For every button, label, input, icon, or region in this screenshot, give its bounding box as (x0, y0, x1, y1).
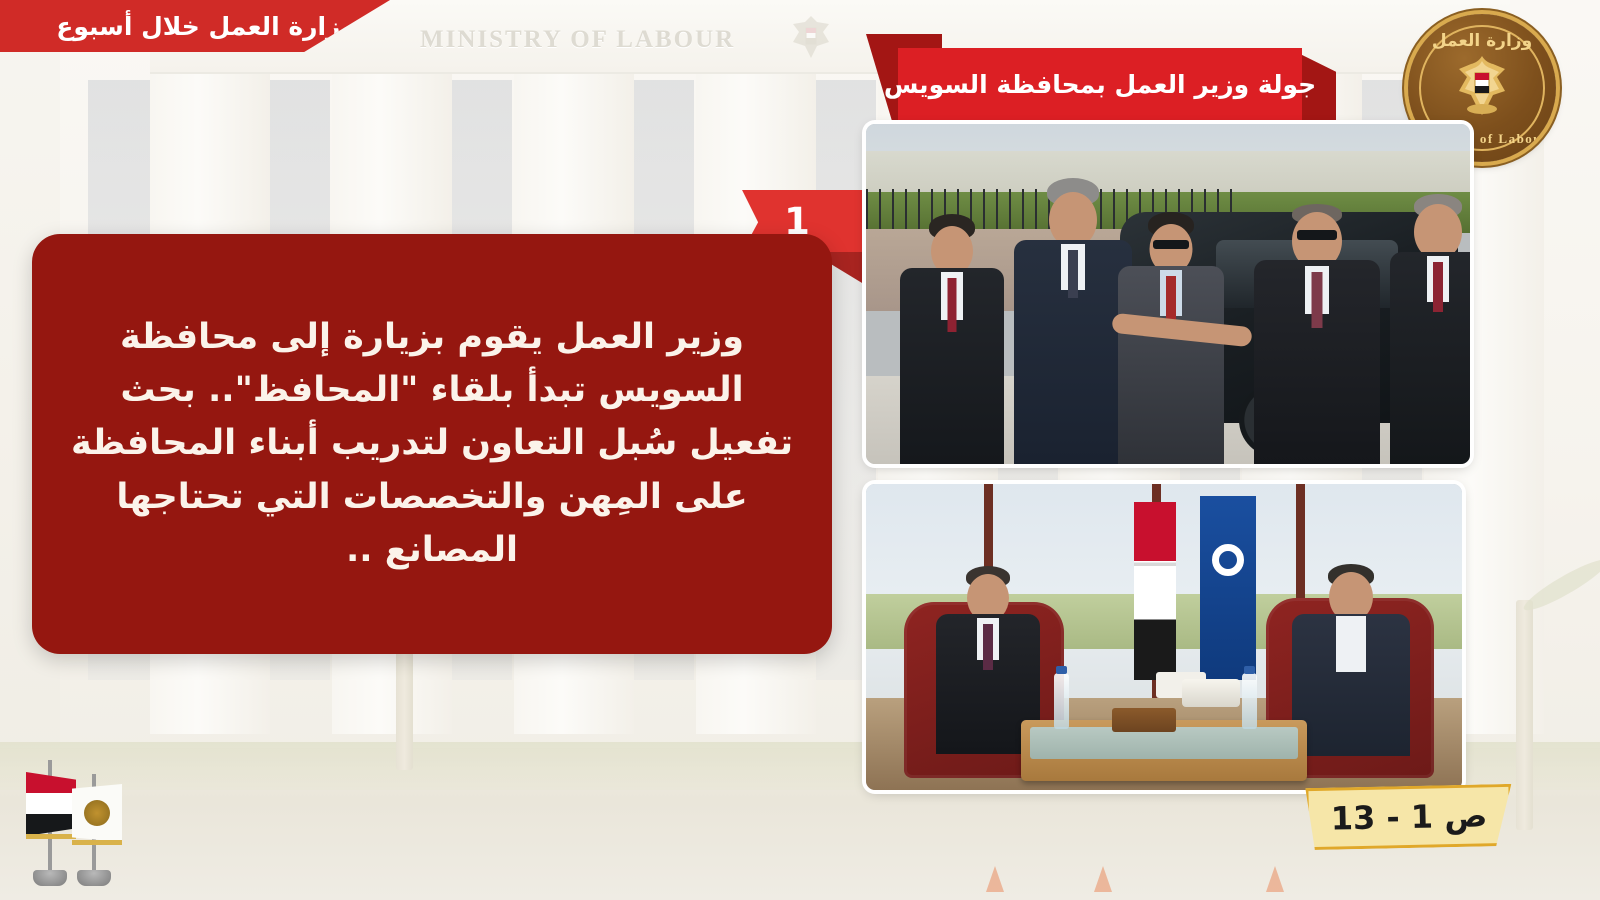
egypt-flag-icon (1134, 502, 1176, 679)
photo-water-bottle (1054, 673, 1069, 729)
traffic-cone-icon (1094, 866, 1112, 892)
sunglasses-icon (1297, 230, 1337, 240)
meeting-photo-scene (866, 484, 1462, 790)
photo-person (1292, 564, 1410, 756)
seal-arabic-title: وزارة العمل (1408, 31, 1556, 51)
meeting-photo (866, 484, 1462, 790)
headline-text: وزير العمل يقوم بزيارة إلى محافظة السويس… (66, 311, 798, 577)
photo-person (900, 214, 1004, 464)
tour-banner-plate: جولة وزير العمل بمحافظة السويس (898, 48, 1302, 120)
traffic-cone-icon (986, 866, 1004, 892)
tour-banner: جولة وزير العمل بمحافظة السويس (866, 34, 1318, 120)
ministry-flag-icon (72, 784, 122, 842)
photo-bottle-cap (1056, 666, 1067, 674)
traffic-cone-icon (1266, 866, 1284, 892)
egypt-eagle-icon (785, 12, 837, 70)
photo-water-bottle (1242, 673, 1257, 729)
headline-card: وزير العمل يقوم بزيارة إلى محافظة السويس… (32, 234, 832, 654)
poster-canvas: MINISTRY OF LABOUR وزارة العمل خلال أسبو… (0, 0, 1600, 900)
page-number-badge: ص 1 - 13 (1305, 784, 1512, 850)
page-number-label: ص 1 - 13 (1330, 796, 1487, 837)
tour-banner-label: جولة وزير العمل بمحافظة السويس (884, 70, 1316, 99)
flag-base (77, 870, 111, 886)
building-signage-text: MINISTRY OF LABOUR (420, 26, 735, 54)
desk-flags (14, 748, 144, 888)
photo-person (1254, 202, 1380, 464)
flag-base (33, 870, 67, 886)
photo-person (1390, 194, 1470, 464)
handshake-photo (866, 124, 1470, 464)
photo-telephone (1182, 679, 1240, 707)
background-palm-trunk (1516, 600, 1533, 830)
flag-red-band (1134, 502, 1176, 561)
photo-table-box (1112, 708, 1176, 732)
handshake-photo-scene (866, 124, 1470, 464)
flag-fringe (72, 840, 122, 845)
photo-bottle-cap (1244, 666, 1255, 674)
egypt-eagle-seal-icon (1449, 53, 1515, 123)
ministry-emblem-icon (84, 800, 110, 826)
sunglasses-icon (1153, 240, 1189, 249)
egypt-flag-icon (26, 772, 76, 836)
flag-fringe (26, 834, 76, 839)
gear-icon (1212, 544, 1244, 576)
governorate-flag-icon (1200, 496, 1256, 680)
